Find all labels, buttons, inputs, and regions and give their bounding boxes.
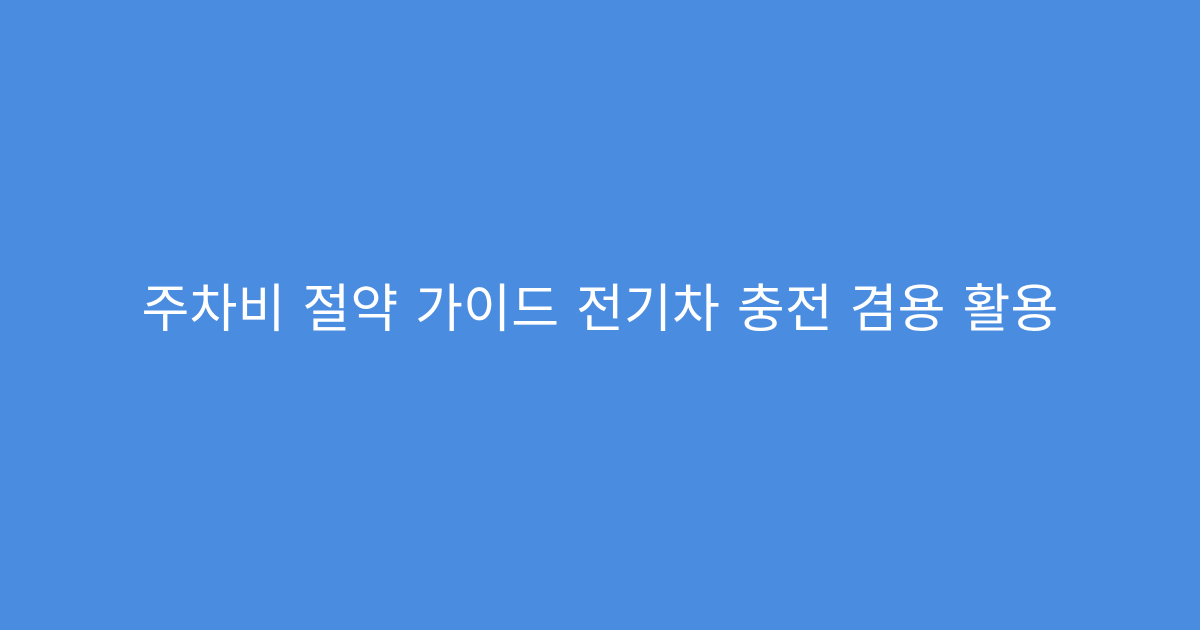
title-container: 주차비 절약 가이드 전기차 충전 겸용 활용: [50, 278, 1150, 343]
social-share-card: 주차비 절약 가이드 전기차 충전 겸용 활용: [0, 0, 1200, 630]
page-title: 주차비 절약 가이드 전기차 충전 겸용 활용: [141, 278, 1058, 343]
